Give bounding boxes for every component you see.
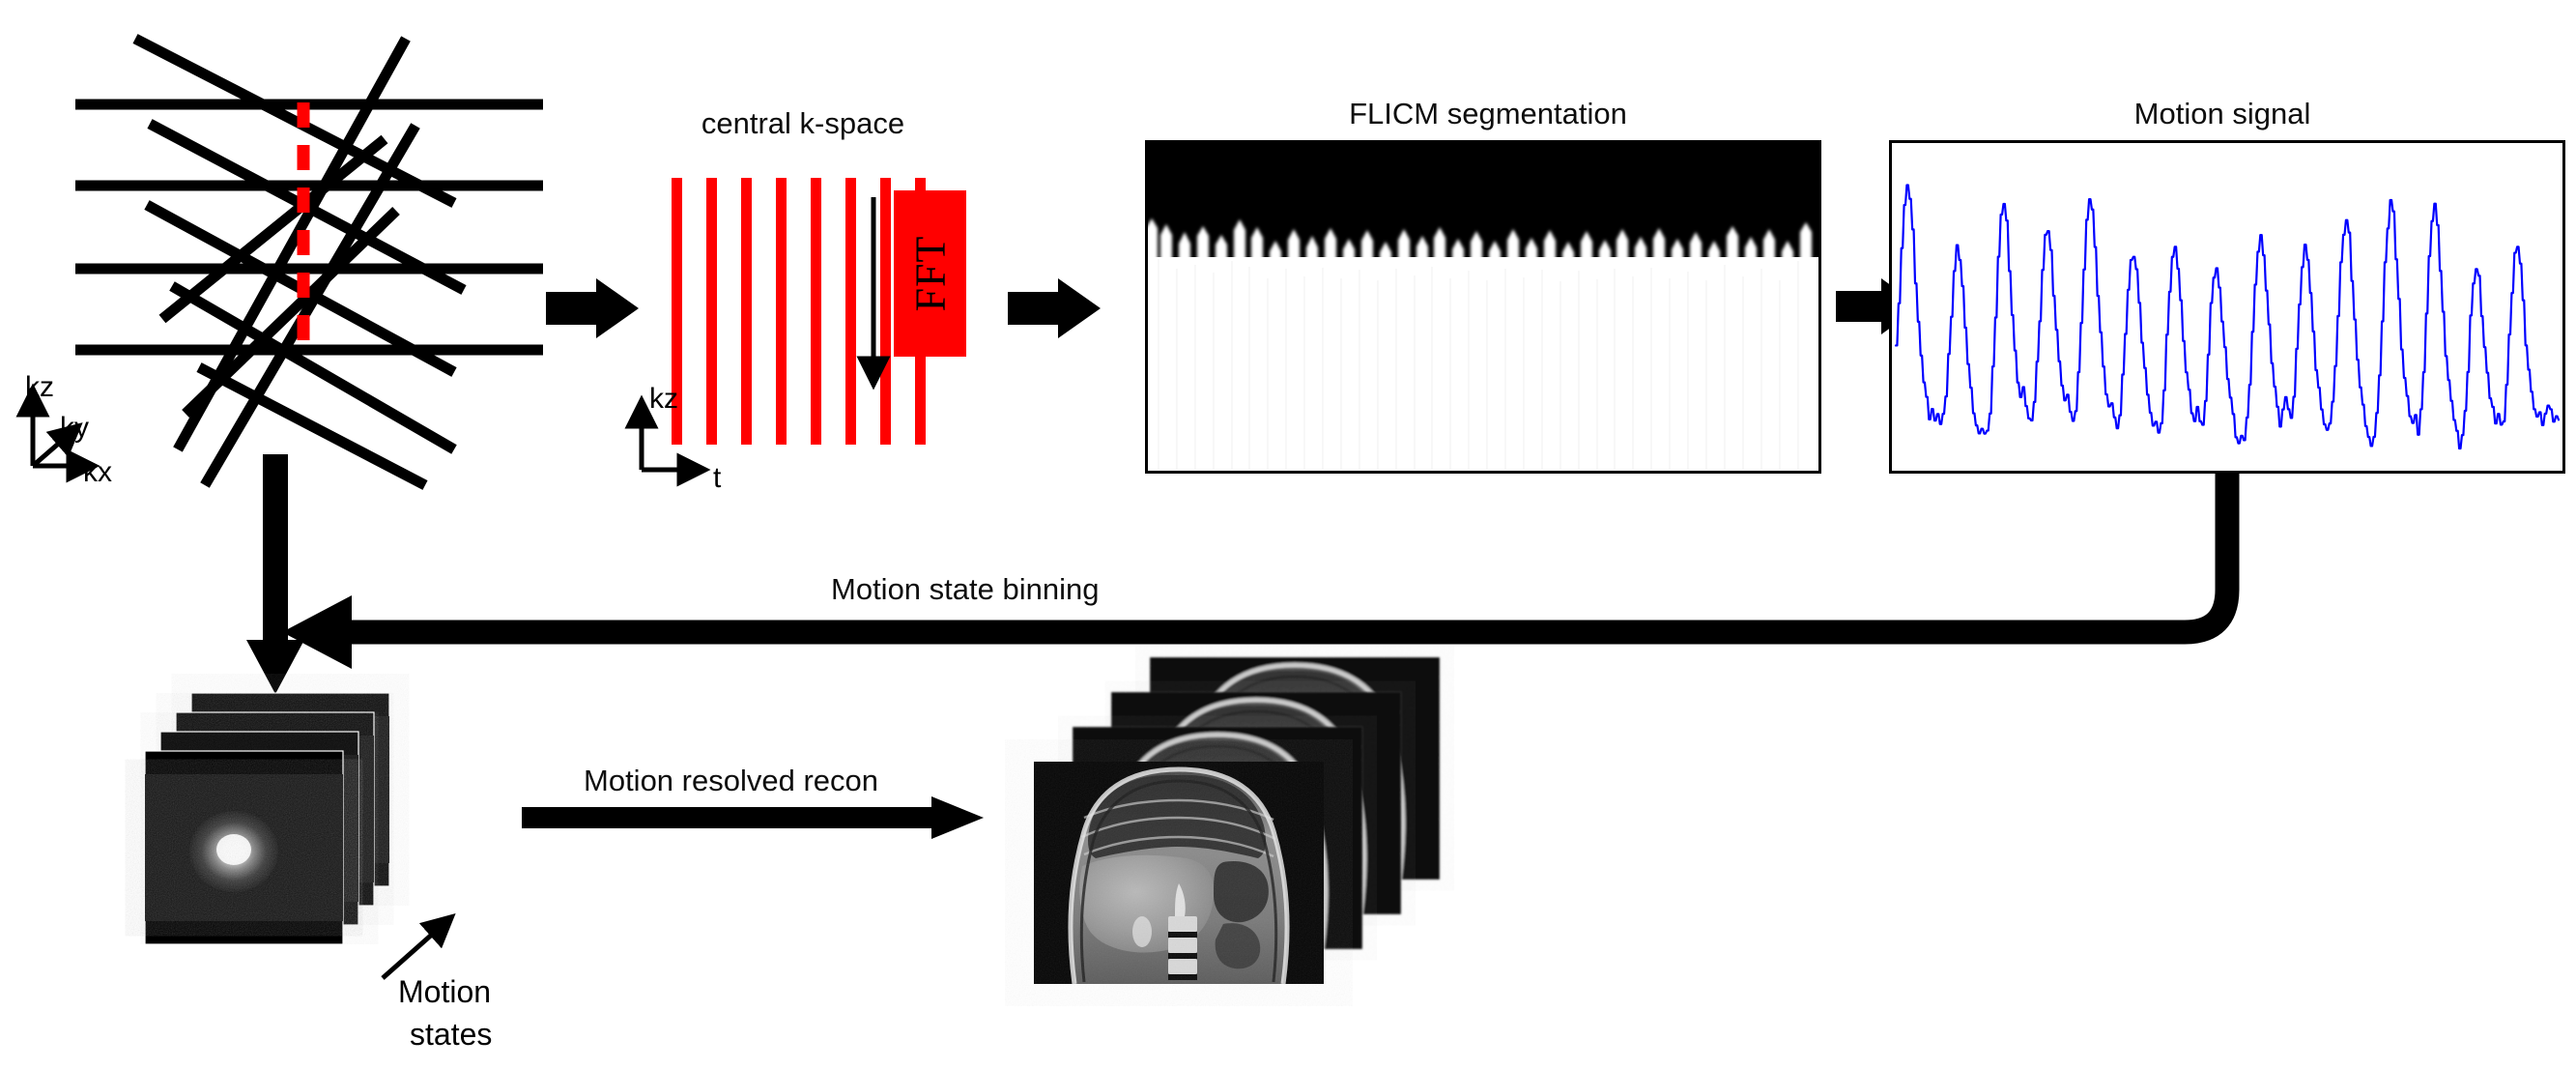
arrow-trajectory-to-bins bbox=[242, 454, 358, 696]
motion-resolved-recon-label: Motion resolved recon bbox=[584, 764, 878, 798]
binning-connector-svg bbox=[232, 454, 2358, 686]
kz-axis-label: kz bbox=[25, 371, 54, 404]
down-arrow-icon bbox=[850, 193, 897, 406]
arrow-recon bbox=[522, 795, 986, 843]
motion-state-binning-label: Motion state binning bbox=[831, 572, 1099, 607]
long-arrow-right-icon bbox=[522, 795, 986, 843]
mri-image-stack-svg bbox=[1034, 657, 1594, 1034]
ky-axis-label: ky bbox=[60, 412, 89, 445]
thick-down-arrow-icon bbox=[242, 454, 358, 696]
fft-label: FFT bbox=[905, 236, 955, 312]
arrow-trajectory-to-kspace bbox=[546, 278, 643, 338]
flicm-segmentation-panel bbox=[1145, 140, 1821, 474]
figure-root: kz ky kx central k-space bbox=[0, 0, 2576, 1069]
fft-down-arrow bbox=[850, 193, 897, 406]
binning-elbow-line bbox=[348, 474, 2227, 632]
central-kspace-title: central k-space bbox=[663, 106, 943, 141]
flicm-segmentation-image bbox=[1148, 143, 1818, 471]
block-arrow-right-icon bbox=[546, 278, 643, 338]
motion-signal-panel bbox=[1889, 140, 2565, 474]
motion-signal-plot bbox=[1892, 143, 2562, 471]
mri-image-stack bbox=[1034, 657, 1594, 1034]
motion-states-label-line1: Motion bbox=[398, 974, 491, 1010]
central-kz-axis-label: kz bbox=[649, 383, 678, 416]
fft-box: FFT bbox=[894, 190, 966, 357]
flicm-title: FLICM segmentation bbox=[1150, 97, 1826, 131]
block-arrow-right-icon bbox=[1008, 278, 1104, 338]
kx-axis-label: kx bbox=[83, 456, 112, 489]
arrow-kspace-to-flicm bbox=[1008, 278, 1104, 338]
motion-state-binning-path bbox=[232, 454, 2358, 686]
motion-signal-trace bbox=[1896, 186, 2559, 449]
motion-states-label-line2: states bbox=[410, 1017, 492, 1053]
mri-stack-slice-front bbox=[1034, 762, 1324, 984]
motion-signal-title: Motion signal bbox=[1990, 97, 2454, 131]
kspace-stack-slice-front bbox=[145, 751, 343, 944]
